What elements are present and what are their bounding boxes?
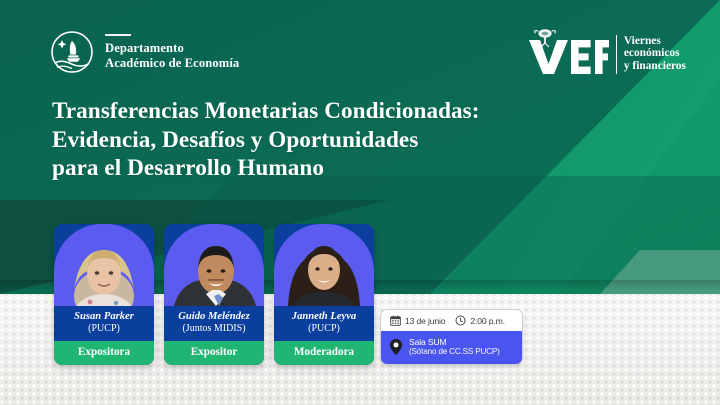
speaker-card: Guido Meléndez (Juntos MIDIS) Expositor — [164, 224, 264, 365]
poster-title: Transferencias Monetarias Condicionadas:… — [52, 97, 612, 183]
speaker-role-badge: Expositor — [164, 341, 264, 365]
speaker-name-band: Guido Meléndez (Juntos MIDIS) — [164, 306, 264, 341]
speaker-role-badge: Expositora — [54, 341, 154, 365]
speaker-photo — [164, 224, 264, 306]
event-date: 13 de junio — [390, 315, 445, 326]
vef-tagline-line3: y financieros — [624, 60, 686, 72]
vef-logo: Viernes económicos y financieros — [527, 26, 686, 74]
clock-icon — [455, 315, 466, 326]
logo-rule — [105, 34, 131, 36]
susan-parker-photo — [54, 224, 154, 306]
speaker-card-list: Susan Parker (PUCP) Expositora — [54, 224, 374, 365]
event-date-text: 13 de junio — [405, 316, 445, 326]
event-datetime-row: 13 de junio 2:00 p.m. — [381, 310, 522, 331]
title-line-3: para el Desarrollo Humano — [52, 154, 612, 183]
speaker-card: Susan Parker (PUCP) Expositora — [54, 224, 154, 365]
speaker-role-badge: Moderadora — [274, 341, 374, 365]
speaker-name: Janneth Leyva — [276, 311, 372, 323]
departamento-logo: Departamento Académico de Economía — [50, 30, 239, 74]
guido-melendez-photo — [164, 224, 264, 306]
event-venue: Sala SUM — [409, 337, 500, 347]
speaker-card: Janneth Leyva (PUCP) Moderadora — [274, 224, 374, 365]
speaker-affiliation: (PUCP) — [56, 323, 152, 335]
calendar-icon — [390, 315, 401, 326]
speaker-affiliation: (Juntos MIDIS) — [166, 323, 262, 335]
event-venue-detail: (Sótano de CC.SS PUCP) — [409, 347, 500, 357]
vef-tagline-line1: Viernes — [624, 35, 686, 47]
vef-wordmark-icon — [527, 26, 609, 74]
speaker-name: Guido Meléndez — [166, 311, 262, 323]
dept-logo-line1: Departamento — [105, 41, 239, 55]
map-pin-icon — [388, 338, 404, 356]
title-line-2: Evidencia, Desafíos y Oportunidades — [52, 126, 612, 155]
speaker-photo — [54, 224, 154, 306]
title-line-1: Transferencias Monetarias Condicionadas: — [52, 97, 612, 126]
event-info-box: 13 de junio 2:00 p.m. Sala SUM (Sótano d… — [380, 309, 523, 365]
event-time: 2:00 p.m. — [455, 315, 504, 326]
janneth-leyva-photo — [274, 224, 374, 306]
event-poster: Departamento Académico de Economía — [0, 0, 720, 405]
vef-tagline: Viernes económicos y financieros — [616, 35, 686, 74]
speaker-affiliation: (PUCP) — [276, 323, 372, 335]
speaker-name: Susan Parker — [56, 311, 152, 323]
dept-logo-line2: Académico de Economía — [105, 56, 239, 70]
vef-tagline-line2: económicos — [624, 47, 686, 59]
speaker-name-band: Susan Parker (PUCP) — [54, 306, 154, 341]
speaker-photo — [274, 224, 374, 306]
event-location-row: Sala SUM (Sótano de CC.SS PUCP) — [381, 331, 522, 364]
event-time-text: 2:00 p.m. — [470, 316, 504, 326]
ship-circle-logo-icon — [50, 30, 94, 74]
speaker-name-band: Janneth Leyva (PUCP) — [274, 306, 374, 341]
